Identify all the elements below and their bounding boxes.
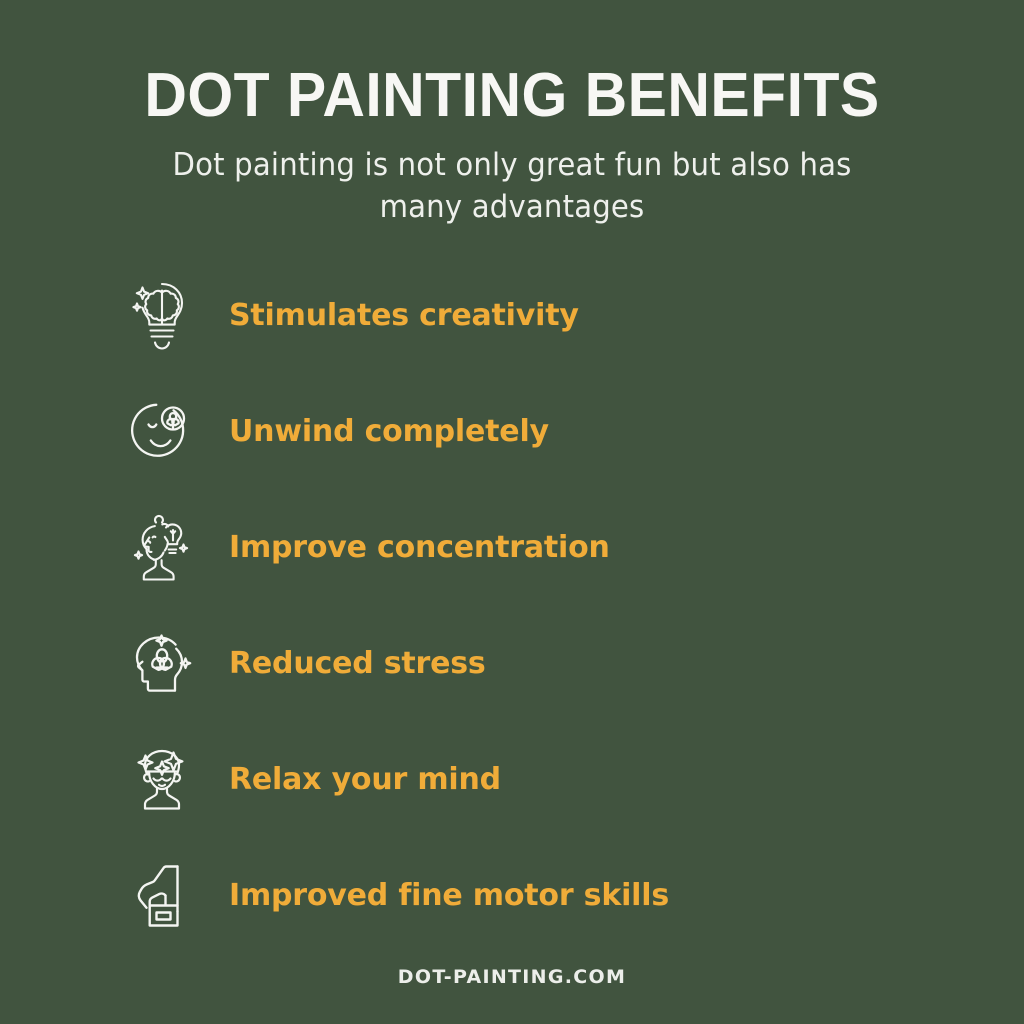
list-item-label: Stimulates creativity (229, 299, 579, 333)
list-item: Improve concentration (128, 500, 928, 596)
head-lightbulb-icon (128, 508, 196, 588)
page-title: DOT PAINTING BENEFITS (26, 62, 999, 130)
list-item: Relax your mind (128, 732, 928, 828)
list-item: Stimulates creativity (128, 268, 928, 364)
smiley-flower-icon (128, 392, 196, 472)
list-item: Unwind completely (128, 384, 928, 480)
lightbulb-brain-icon (128, 276, 196, 356)
benefits-list: Stimulates creativity Unwind completely (128, 268, 928, 964)
list-item: Reduced stress (128, 616, 928, 712)
header: DOT PAINTING BENEFITS Dot painting is no… (0, 62, 1024, 228)
list-item-label: Improve concentration (229, 531, 610, 565)
list-item-label: Relax your mind (229, 763, 501, 797)
footer-website: DOT-PAINTING.COM (0, 966, 1024, 988)
relaxed-face-sparkles-icon (128, 740, 196, 820)
list-item-label: Unwind completely (229, 415, 549, 449)
list-item-label: Improved fine motor skills (229, 879, 669, 913)
list-item: Improved fine motor skills (128, 848, 928, 944)
list-item-label: Reduced stress (229, 647, 486, 681)
hand-pinch-icon (128, 856, 196, 936)
page-subtitle: Dot painting is not only great fun but a… (164, 144, 860, 228)
head-lotus-icon (128, 624, 196, 704)
infographic-poster: DOT PAINTING BENEFITS Dot painting is no… (0, 0, 1024, 1024)
